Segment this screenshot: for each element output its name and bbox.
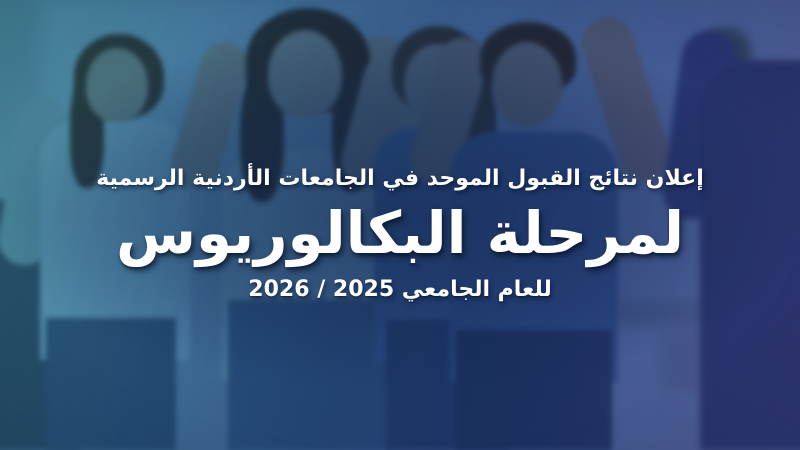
headline-main: لمرحلة البكالوريوس xyxy=(116,201,684,266)
headline-year: للعام الجامعي 2025 / 2026 xyxy=(248,276,551,304)
headline-block: إعلان نتائج القبول الموحد في الجامعات ال… xyxy=(0,0,800,450)
announcement-banner: إعلان نتائج القبول الموحد في الجامعات ال… xyxy=(0,0,800,450)
headline-kicker: إعلان نتائج القبول الموحد في الجامعات ال… xyxy=(96,165,703,193)
